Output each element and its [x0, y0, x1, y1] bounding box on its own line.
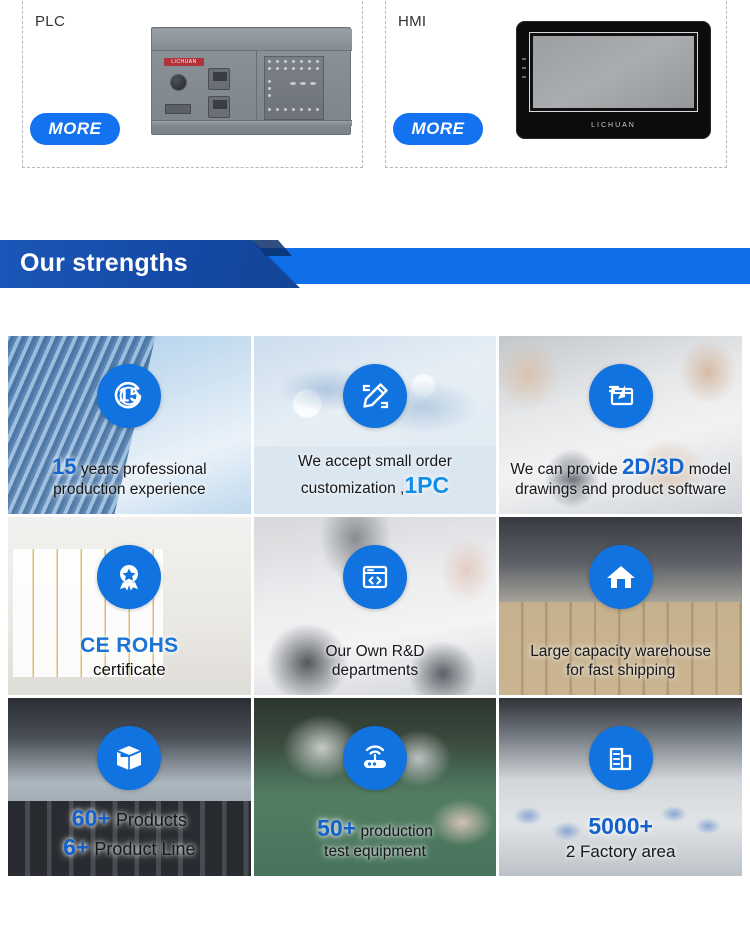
strength-cell[interactable]: Our Own R&D departments [254, 517, 497, 695]
strength-cell[interactable]: CE ROHS certificate [8, 517, 251, 695]
strength-cell[interactable]: We accept small order customization ,1PC [254, 336, 497, 514]
badge-number: 15 [97, 385, 161, 408]
strength-caption: 60+ Products 6+ Product Line [14, 804, 245, 862]
product-card-hmi[interactable]: HMI LICHUAN MORE [385, 0, 727, 168]
code-window-icon [343, 545, 407, 609]
strength-cell[interactable]: 5000+ 2 Factory area [499, 698, 742, 876]
more-button-hmi[interactable]: MORE [393, 113, 483, 145]
strength-cell[interactable]: Large capacity warehouse for fast shippi… [499, 517, 742, 695]
product-cards-row: PLC LICHUAN [0, 0, 750, 175]
plc-ethernet-port-icon [208, 68, 230, 90]
strength-caption: We accept small order customization ,1PC [260, 452, 491, 500]
product-card-title: HMI [398, 13, 426, 30]
strength-caption: 50+ production test equipment [260, 814, 491, 862]
box-package-icon [97, 726, 161, 790]
strength-caption: 15 years professional production experie… [14, 453, 245, 500]
strength-cell[interactable]: 60+ Products 6+ Product Line [8, 698, 251, 876]
page-root: PLC LICHUAN [0, 0, 750, 925]
strength-cell[interactable]: 15 15 years professional production expe… [8, 336, 251, 514]
pencil-customize-icon [343, 364, 407, 428]
strength-caption: 5000+ 2 Factory area [505, 812, 736, 862]
hmi-brand-label: LICHUAN [516, 122, 711, 129]
section-banner: Our strengths [0, 240, 750, 290]
building-factory-icon [589, 726, 653, 790]
plc-dial-icon [170, 74, 187, 91]
house-warehouse-icon [589, 545, 653, 609]
plc-usb-port-icon [165, 104, 191, 114]
strength-cell[interactable]: 50+ production test equipment [254, 698, 497, 876]
router-signal-icon [343, 726, 407, 790]
award-medal-icon [97, 545, 161, 609]
strength-caption: Our Own R&D departments [260, 642, 491, 681]
plc-led-array [268, 60, 320, 116]
strength-caption: CE ROHS certificate [14, 633, 245, 681]
strength-caption: Large capacity warehouse for fast shippi… [505, 642, 736, 681]
product-card-plc[interactable]: PLC LICHUAN [22, 0, 363, 168]
hmi-device-image: LICHUAN [516, 21, 711, 139]
strength-caption: We can provide 2D/3D model drawings and … [505, 453, 736, 500]
plc-ethernet-port-icon [208, 96, 230, 118]
section-title: Our strengths [20, 249, 188, 278]
plc-brand-label: LICHUAN [164, 58, 204, 66]
cad-drawing-icon [589, 364, 653, 428]
strength-cell[interactable]: We can provide 2D/3D model drawings and … [499, 336, 742, 514]
more-button-plc[interactable]: MORE [30, 113, 120, 145]
strengths-grid: 15 15 years professional production expe… [8, 336, 742, 876]
product-card-title: PLC [35, 13, 65, 30]
clock-15-icon: 15 [97, 364, 161, 428]
hmi-indicator-leds [522, 58, 526, 80]
plc-device-image: LICHUAN [151, 19, 351, 141]
